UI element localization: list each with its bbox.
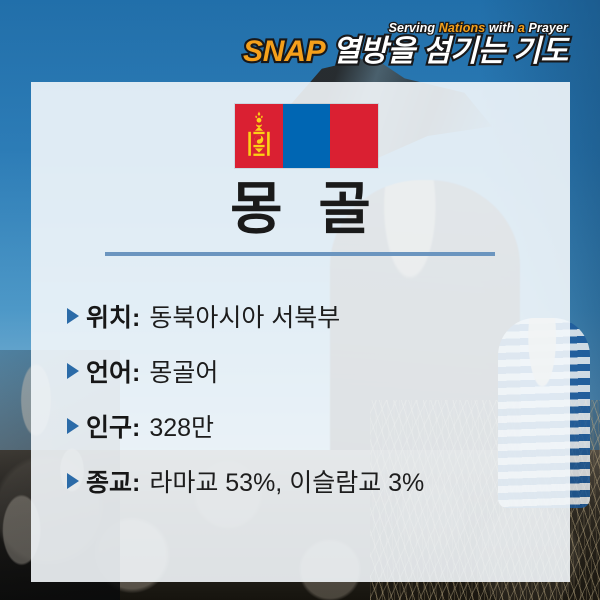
flag-stripe-red-right: [330, 104, 378, 168]
logo-wordmark: SNAP 열방을 섬기는 기도: [243, 37, 568, 67]
title-divider: [105, 252, 495, 256]
triangle-bullet-icon: [67, 308, 79, 324]
tagline-word-1: Serving: [389, 21, 436, 35]
fact-value: 몽골어: [149, 353, 218, 389]
triangle-bullet-icon: [67, 473, 79, 489]
fact-row-location: 위치: 동북아시아 서북부: [67, 288, 550, 343]
logo-brand-korean: 열방을 섬기는 기도: [333, 35, 568, 68]
fact-label: 종교:: [86, 463, 140, 499]
screenshot-root: Serving Nations with a Prayer SNAP 열방을 섬…: [0, 0, 600, 600]
fact-value: 동북아시아 서북부: [149, 298, 340, 334]
country-name: 몽 골: [31, 180, 570, 240]
fact-label: 언어:: [86, 353, 140, 389]
triangle-bullet-icon: [67, 418, 79, 434]
tagline-word-3: with: [489, 21, 514, 35]
mongolia-flag: [235, 104, 378, 168]
tagline-word-4: a: [518, 21, 525, 35]
fact-label: 인구:: [86, 408, 140, 444]
fact-row-religion: 종교: 라마교 53%, 이슬람교 3%: [67, 453, 550, 508]
fact-value: 라마교 53%, 이슬람교 3%: [149, 463, 424, 499]
tagline-word-2: Nations: [439, 21, 486, 35]
logo-brand-text: SNAP: [243, 35, 324, 68]
fact-row-language: 언어: 몽골어: [67, 343, 550, 398]
fact-label: 위치:: [86, 298, 140, 334]
snap-logo: Serving Nations with a Prayer SNAP 열방을 섬…: [243, 22, 568, 67]
triangle-bullet-icon: [67, 363, 79, 379]
flag-stripe-blue: [283, 104, 331, 168]
logo-tagline: Serving Nations with a Prayer: [243, 22, 568, 35]
fact-row-population: 인구: 328만: [67, 398, 550, 453]
info-card: 몽 골 위치: 동북아시아 서북부 언어: 몽골어 인구: 328만 종교: 라: [31, 82, 570, 582]
tagline-word-5: Prayer: [528, 21, 568, 35]
country-facts-list: 위치: 동북아시아 서북부 언어: 몽골어 인구: 328만 종교: 라마교 5…: [67, 288, 550, 508]
fact-value: 328만: [149, 408, 214, 444]
soyombo-icon: [247, 111, 271, 161]
